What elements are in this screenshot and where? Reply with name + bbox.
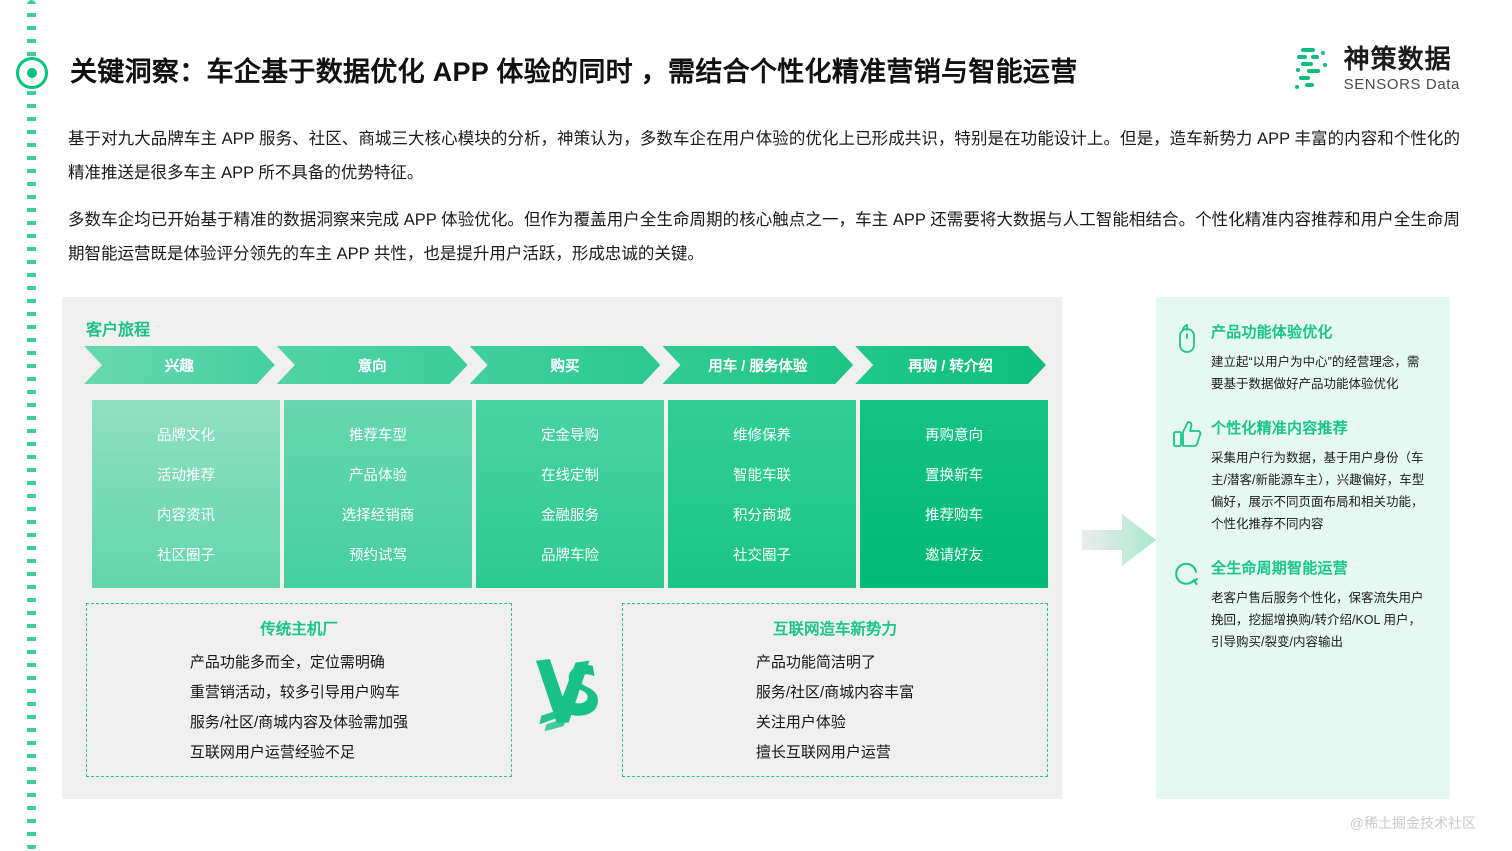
journey-column-item[interactable]: 产品体验 [349, 464, 407, 485]
journey-column-item[interactable]: 维修保养 [733, 424, 791, 445]
journey-column-item[interactable]: 品牌车险 [541, 544, 599, 565]
journey-column-item[interactable]: 内容资讯 [157, 504, 215, 525]
journey-stage-label: 再购 / 转介绍 [908, 355, 993, 376]
journey-column-item[interactable]: 社区圈子 [157, 544, 215, 565]
journey-column-item[interactable]: 品牌文化 [157, 424, 215, 445]
traditional-oem-line: 重营销活动，较多引导用户购车 [190, 678, 408, 708]
traditional-oem-line: 服务/社区/商城内容及体验需加强 [190, 708, 408, 738]
insight-body: 个性化精准内容推荐采集用户行为数据，基于用户身份（车主/潜客/新能源车主），兴趣… [1211, 417, 1430, 535]
traditional-oem-line: 产品功能多而全，定位需明确 [190, 648, 408, 678]
journey-column-4: 维修保养智能车联积分商城社交圈子 [668, 400, 856, 588]
journey-column-item[interactable]: 推荐购车 [925, 504, 983, 525]
page-title: 关键洞察：车企基于数据优化 APP 体验的同时 ，需结合个性化精准营销与智能运营 [70, 50, 1250, 89]
journey-column-3: 定金导购在线定制金融服务品牌车险 [476, 400, 664, 588]
refresh-cycle-icon [1172, 557, 1202, 653]
mouse-icon [1172, 321, 1202, 395]
journey-stage-label: 兴趣 [165, 355, 194, 376]
journey-column-item[interactable]: 邀请好友 [925, 544, 983, 565]
journey-columns: 品牌文化活动推荐内容资讯社区圈子推荐车型产品体验选择经销商预约试驾定金导购在线定… [92, 400, 1048, 588]
right-arrow-icon [1082, 512, 1156, 568]
journey-stage-chevrons: 兴趣意向购买用车 / 服务体验再购 / 转介绍 [84, 346, 1048, 384]
journey-stage-4[interactable]: 用车 / 服务体验 [662, 346, 853, 384]
journey-stage-label: 购买 [550, 355, 579, 376]
insight-text: 采集用户行为数据，基于用户身份（车主/潜客/新能源车主），兴趣偏好，车型偏好，展… [1211, 447, 1430, 535]
logo-text-en: SENSORS Data [1344, 77, 1460, 92]
thumbs-up-icon [1172, 417, 1202, 535]
journey-column-item[interactable]: 积分商城 [733, 504, 791, 525]
journey-column-item[interactable]: 定金导购 [541, 424, 599, 445]
insight-item-2: 个性化精准内容推荐采集用户行为数据，基于用户身份（车主/潜客/新能源车主），兴趣… [1172, 417, 1430, 535]
journey-stage-label: 意向 [358, 355, 387, 376]
insight-heading: 个性化精准内容推荐 [1211, 417, 1430, 438]
intro-paragraph-2: 多数车企均已开始基于精准的数据洞察来完成 APP 体验优化。但作为覆盖用户全生命… [68, 203, 1460, 271]
target-icon [16, 57, 48, 89]
traditional-oem-box: 传统主机厂 产品功能多而全，定位需明确重营销活动，较多引导用户购车服务/社区/商… [86, 603, 512, 777]
traditional-oem-line: 互联网用户运营经验不足 [190, 738, 408, 768]
journey-column-1: 品牌文化活动推荐内容资讯社区圈子 [92, 400, 280, 588]
journey-column-item[interactable]: 选择经销商 [342, 504, 415, 525]
internet-newcomer-line: 擅长互联网用户运营 [756, 738, 914, 768]
logo-text-cn: 神策数据 [1344, 46, 1460, 72]
journey-column-item[interactable]: 金融服务 [541, 504, 599, 525]
journey-stage-3[interactable]: 购买 [470, 346, 661, 384]
traditional-oem-heading: 传统主机厂 [260, 617, 338, 639]
journey-stage-label: 用车 / 服务体验 [708, 355, 807, 376]
insight-item-1: 产品功能体验优化建立起“以用户为中心”的经营理念，需要基于数据做好产品功能体验优… [1172, 321, 1430, 395]
journey-stage-1[interactable]: 兴趣 [84, 346, 275, 384]
watermark: @稀土掘金技术社区 [1350, 813, 1476, 833]
sensors-data-logo-icon [1295, 45, 1333, 93]
vs-icon [512, 603, 622, 777]
journey-column-item[interactable]: 社交圈子 [733, 544, 791, 565]
insight-text: 老客户售后服务个性化，保客流失用户挽回，挖掘增换购/转介绍/KOL 用户，引导购… [1211, 587, 1430, 653]
insight-text: 建立起“以用户为中心”的经营理念，需要基于数据做好产品功能体验优化 [1211, 351, 1430, 395]
journey-column-item[interactable]: 智能车联 [733, 464, 791, 485]
internet-newcomer-line: 服务/社区/商城内容丰富 [756, 678, 914, 708]
intro-paragraph-1: 基于对九大品牌车主 APP 服务、社区、商城三大核心模块的分析，神策认为，多数车… [68, 122, 1460, 190]
internet-newcomer-line: 关注用户体验 [756, 708, 914, 738]
customer-journey-panel: 客户旅程 兴趣意向购买用车 / 服务体验再购 / 转介绍 品牌文化活动推荐内容资… [62, 297, 1062, 799]
insight-body: 产品功能体验优化建立起“以用户为中心”的经营理念，需要基于数据做好产品功能体验优… [1211, 321, 1430, 395]
journey-column-item[interactable]: 推荐车型 [349, 424, 407, 445]
insights-panel: 产品功能体验优化建立起“以用户为中心”的经营理念，需要基于数据做好产品功能体验优… [1156, 297, 1450, 799]
journey-title: 客户旅程 [86, 316, 150, 340]
internet-newcomer-box: 互联网造车新势力 产品功能简洁明了服务/社区/商城内容丰富关注用户体验擅长互联网… [622, 603, 1048, 777]
brand-logo: 神策数据 SENSORS Data [1295, 45, 1460, 93]
insight-heading: 全生命周期智能运营 [1211, 557, 1430, 578]
comparison-row: 传统主机厂 产品功能多而全，定位需明确重营销活动，较多引导用户购车服务/社区/商… [86, 603, 1048, 777]
journey-column-5: 再购意向置换新车推荐购车邀请好友 [860, 400, 1048, 588]
journey-stage-5[interactable]: 再购 / 转介绍 [855, 346, 1046, 384]
journey-column-item[interactable]: 在线定制 [541, 464, 599, 485]
insight-item-3: 全生命周期智能运营老客户售后服务个性化，保客流失用户挽回，挖掘增换购/转介绍/K… [1172, 557, 1430, 653]
slide-root: 关键洞察：车企基于数据优化 APP 体验的同时 ，需结合个性化精准营销与智能运营 [0, 0, 1512, 851]
journey-column-2: 推荐车型产品体验选择经销商预约试驾 [284, 400, 472, 588]
left-dotted-rail [27, 0, 36, 851]
journey-column-item[interactable]: 置换新车 [925, 464, 983, 485]
journey-column-item[interactable]: 再购意向 [925, 424, 983, 445]
insight-body: 全生命周期智能运营老客户售后服务个性化，保客流失用户挽回，挖掘增换购/转介绍/K… [1211, 557, 1430, 653]
insight-heading: 产品功能体验优化 [1211, 321, 1430, 342]
journey-stage-2[interactable]: 意向 [277, 346, 468, 384]
internet-newcomer-heading: 互联网造车新势力 [773, 617, 897, 639]
journey-column-item[interactable]: 预约试驾 [349, 544, 407, 565]
journey-column-item[interactable]: 活动推荐 [157, 464, 215, 485]
internet-newcomer-line: 产品功能简洁明了 [756, 648, 914, 678]
